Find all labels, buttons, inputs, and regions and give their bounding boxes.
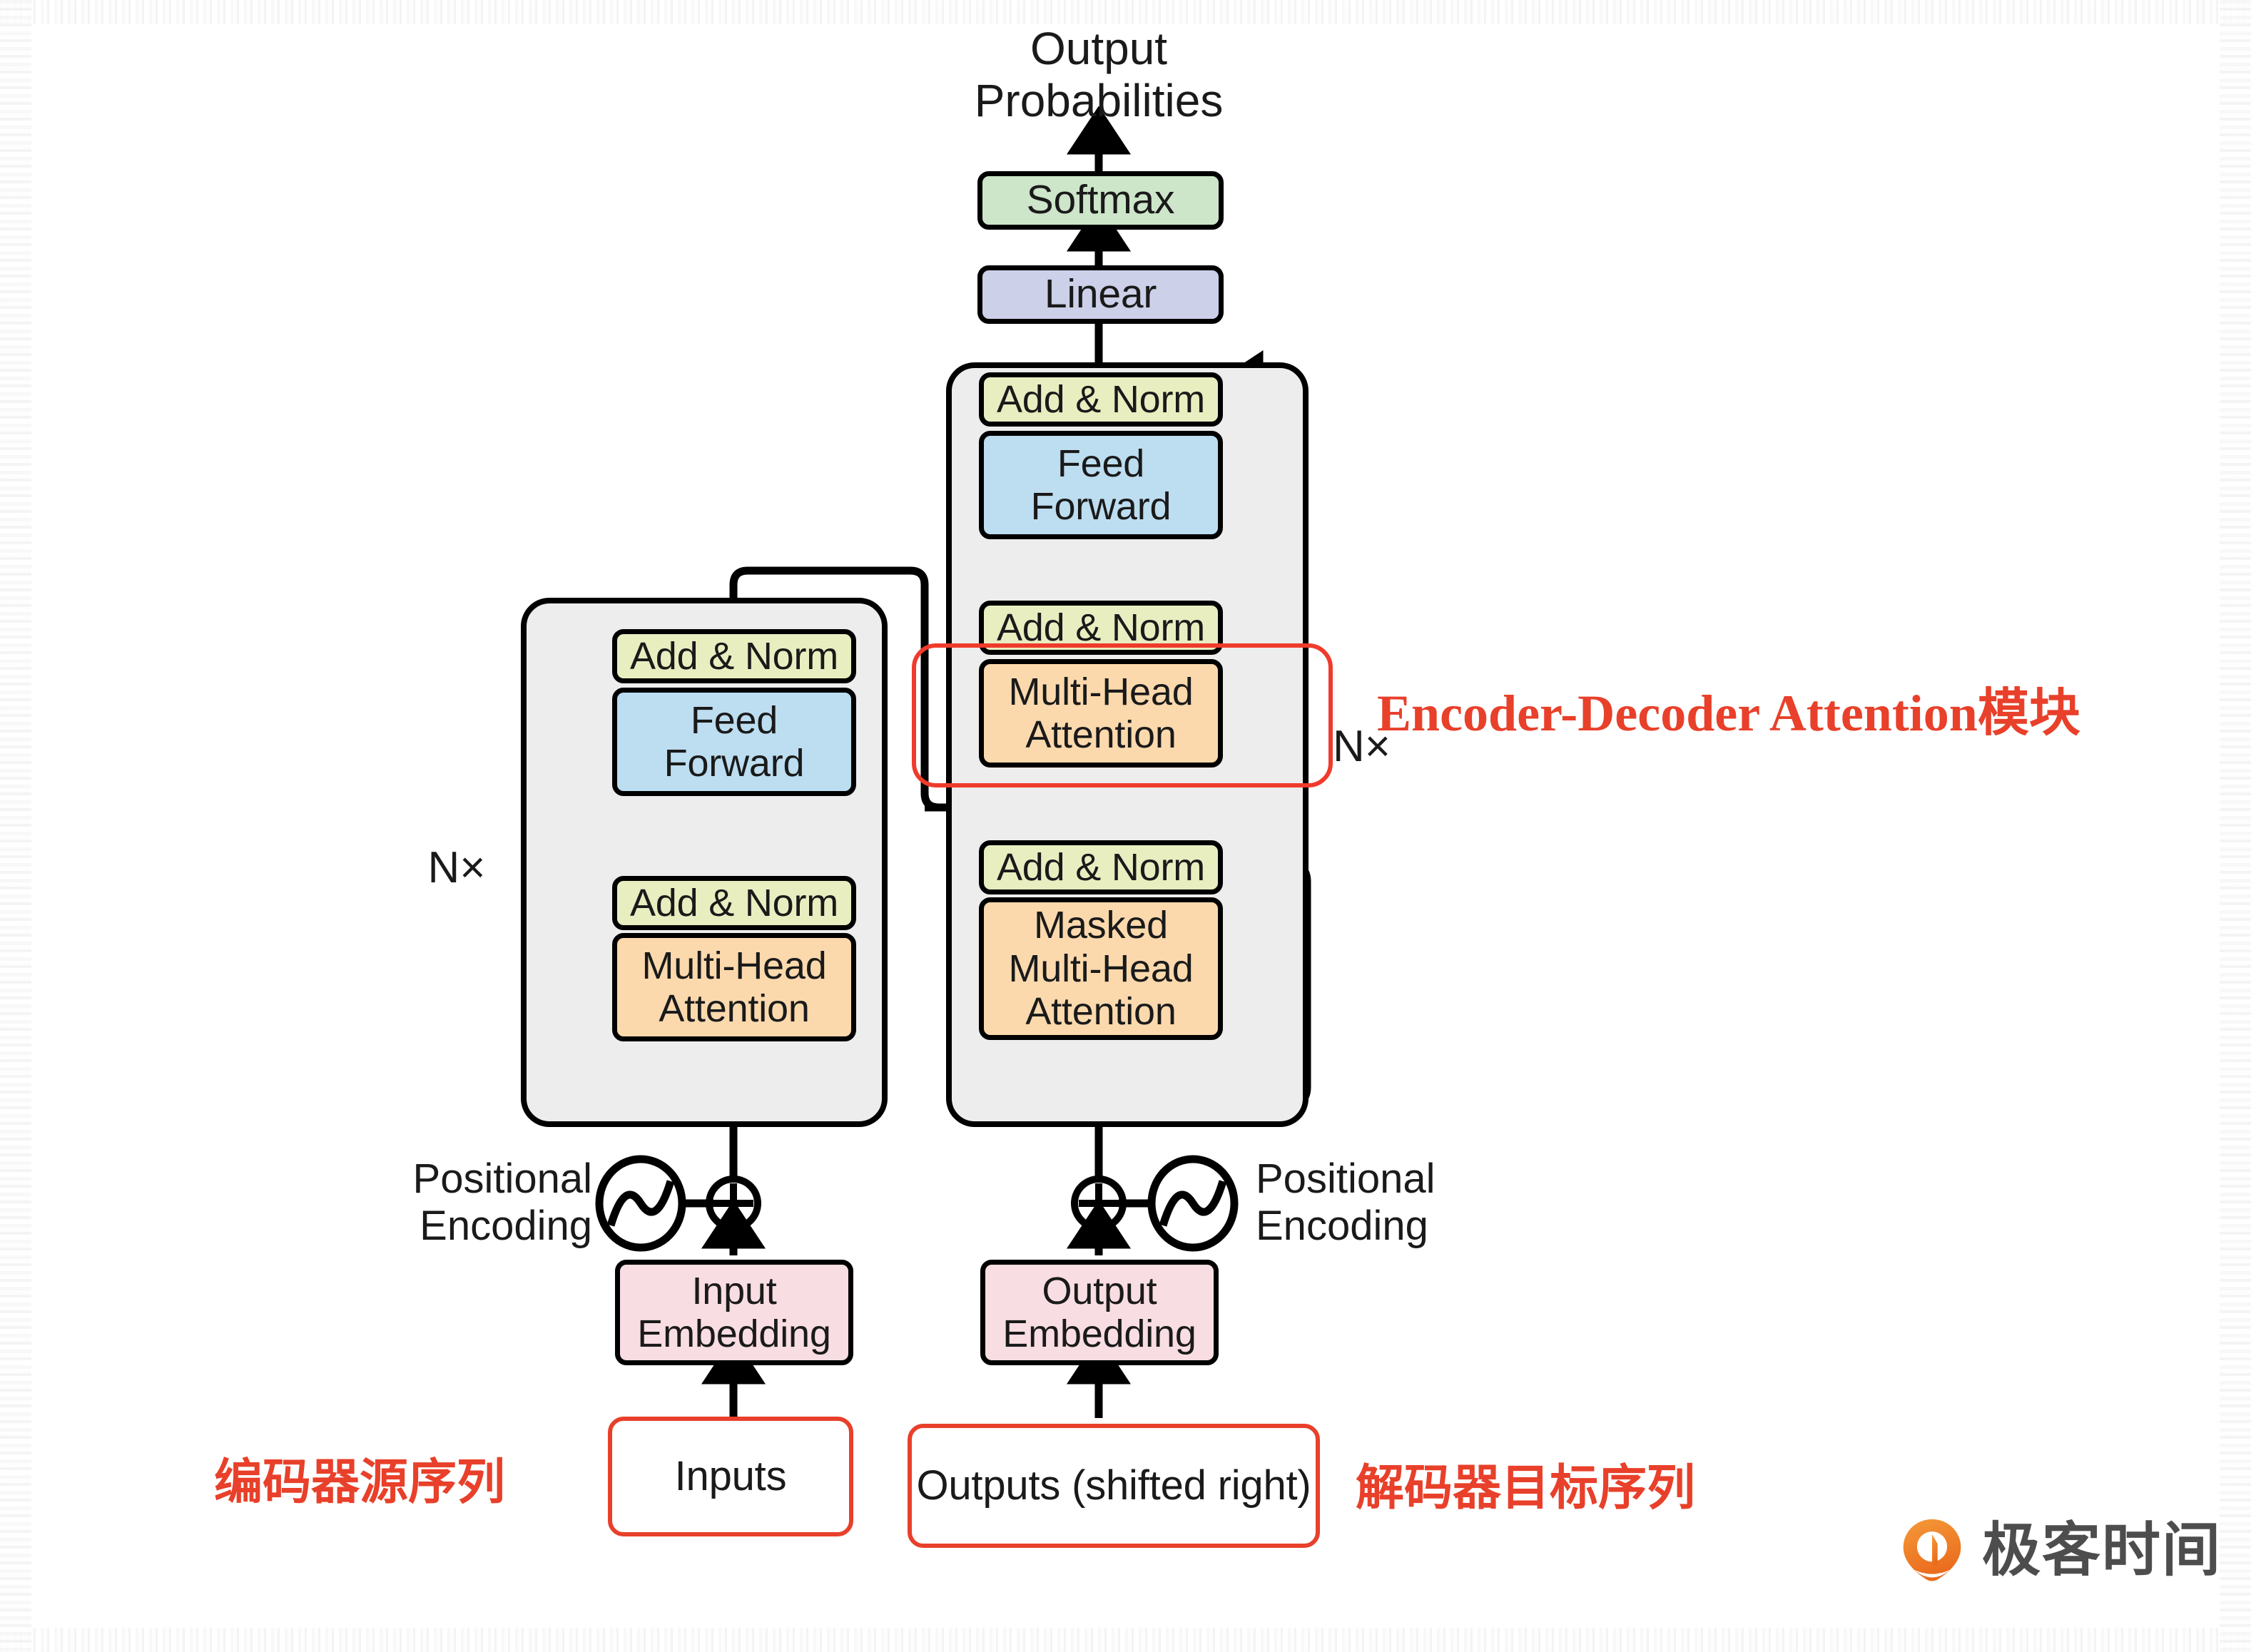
softmax-box[interactable]: Softmax [977, 171, 1224, 230]
encoder-source-annotation: 编码器源序列 [214, 1442, 505, 1513]
decoder-add-norm-bottom[interactable]: Add & Norm [979, 840, 1223, 894]
cross-attention-annotation: Encoder-Decoder Attention模块 [1377, 671, 2080, 745]
outputs-box[interactable]: Outputs (shifted right) [908, 1424, 1320, 1548]
decoder-add-norm-mid[interactable]: Add & Norm [979, 601, 1223, 655]
encoder-feed-forward[interactable]: Feed Forward [612, 688, 856, 796]
linear-box[interactable]: Linear [977, 265, 1224, 324]
geektime-logo-icon [1898, 1516, 1966, 1585]
encoder-add-norm-bottom[interactable]: Add & Norm [612, 876, 856, 930]
input-embedding-box[interactable]: Input Embedding [615, 1260, 853, 1365]
encoder-self-attention[interactable]: Multi-Head Attention [612, 933, 856, 1041]
decoder-target-annotation: 解码器目标序列 [1356, 1448, 1695, 1519]
positional-encoding-label-left: Positional Encoding [335, 1156, 592, 1250]
diagram-canvas: Output Probabilities Softmax Linear Add … [0, 0, 2251, 1652]
nx-label-encoder: N× [400, 843, 514, 894]
output-embedding-box[interactable]: Output Embedding [980, 1260, 1219, 1365]
geektime-watermark: 极客时间 [1898, 1516, 2222, 1585]
inputs-box[interactable]: Inputs [608, 1417, 853, 1536]
geektime-logo-text: 极客时间 [1982, 1521, 2222, 1580]
decoder-add-norm-top[interactable]: Add & Norm [979, 372, 1223, 427]
positional-encoding-label-right: Positional Encoding [1256, 1156, 1527, 1250]
decoder-masked-attention[interactable]: Masked Multi-Head Attention [979, 897, 1223, 1040]
output-probabilities-label: Output Probabilities [920, 23, 1277, 127]
decoder-feed-forward[interactable]: Feed Forward [979, 431, 1223, 539]
encoder-add-norm-top[interactable]: Add & Norm [612, 629, 856, 683]
decoder-cross-attention[interactable]: Multi-Head Attention [979, 659, 1223, 768]
